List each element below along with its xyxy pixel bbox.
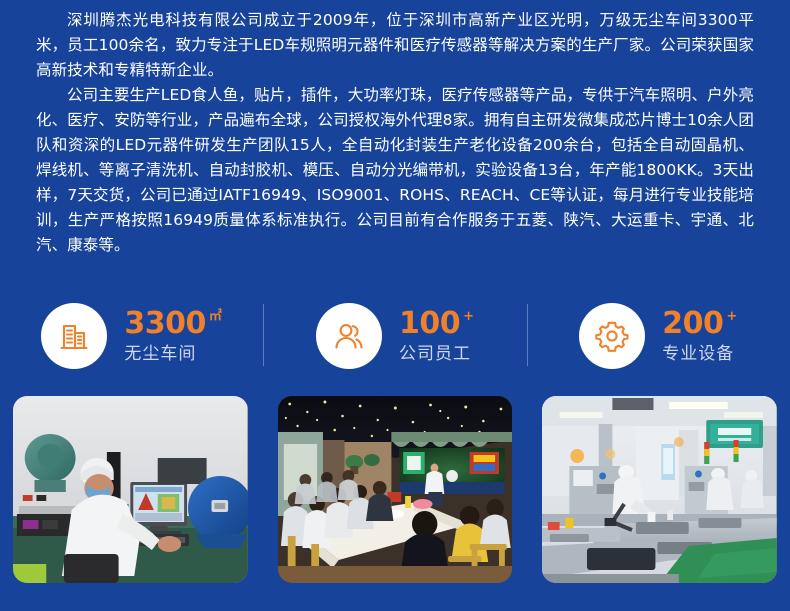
- stat-value-row: 3300 ㎡: [124, 309, 222, 339]
- gear-icon: [593, 317, 631, 355]
- people-icon: [330, 317, 368, 355]
- stat-item-cleanroom: 3300 ㎡ 无尘车间: [0, 288, 263, 384]
- company-description: 深圳腾杰光电科技有限公司成立于2009年，位于深圳市高新产业区光明，万级无尘车间…: [0, 0, 790, 258]
- stat-number: 200: [662, 309, 723, 339]
- stat-icon-circle: [316, 303, 382, 369]
- stat-icon-circle: [579, 303, 645, 369]
- stats-row: 3300 ㎡ 无尘车间 100 + 公司员工: [0, 288, 790, 384]
- stat-label: 公司员工: [399, 346, 471, 363]
- description-paragraph-2: 公司主要生产LED食人鱼，贴片，插件，大功率灯珠，医疗传感器等产品，专供于汽车照…: [36, 83, 754, 258]
- stat-icon-circle: [41, 303, 107, 369]
- stat-item-employees: 100 + 公司员工: [263, 288, 526, 384]
- stat-text-block: 200 + 专业设备: [662, 309, 737, 363]
- stat-item-equipment: 200 + 专业设备: [527, 288, 790, 384]
- photo-lab-testing: [13, 396, 248, 583]
- stat-number: 3300: [124, 309, 206, 339]
- stat-label: 无尘车间: [124, 346, 196, 363]
- stat-number: 100: [399, 309, 460, 339]
- stat-unit: +: [463, 310, 474, 323]
- stat-label: 专业设备: [662, 346, 734, 363]
- stat-value-row: 200 +: [662, 309, 737, 339]
- photo-cleanroom-production: [542, 396, 777, 583]
- stat-value-row: 100 +: [399, 309, 474, 339]
- stat-unit: +: [726, 310, 737, 323]
- building-icon: [55, 317, 93, 355]
- description-paragraph-1: 深圳腾杰光电科技有限公司成立于2009年，位于深圳市高新产业区光明，万级无尘车间…: [36, 8, 754, 83]
- photo-company-banquet: [278, 396, 513, 583]
- stat-text-block: 100 + 公司员工: [399, 309, 474, 363]
- stat-text-block: 3300 ㎡ 无尘车间: [124, 309, 222, 363]
- photo-gallery: [13, 396, 777, 583]
- stat-unit: ㎡: [209, 310, 222, 323]
